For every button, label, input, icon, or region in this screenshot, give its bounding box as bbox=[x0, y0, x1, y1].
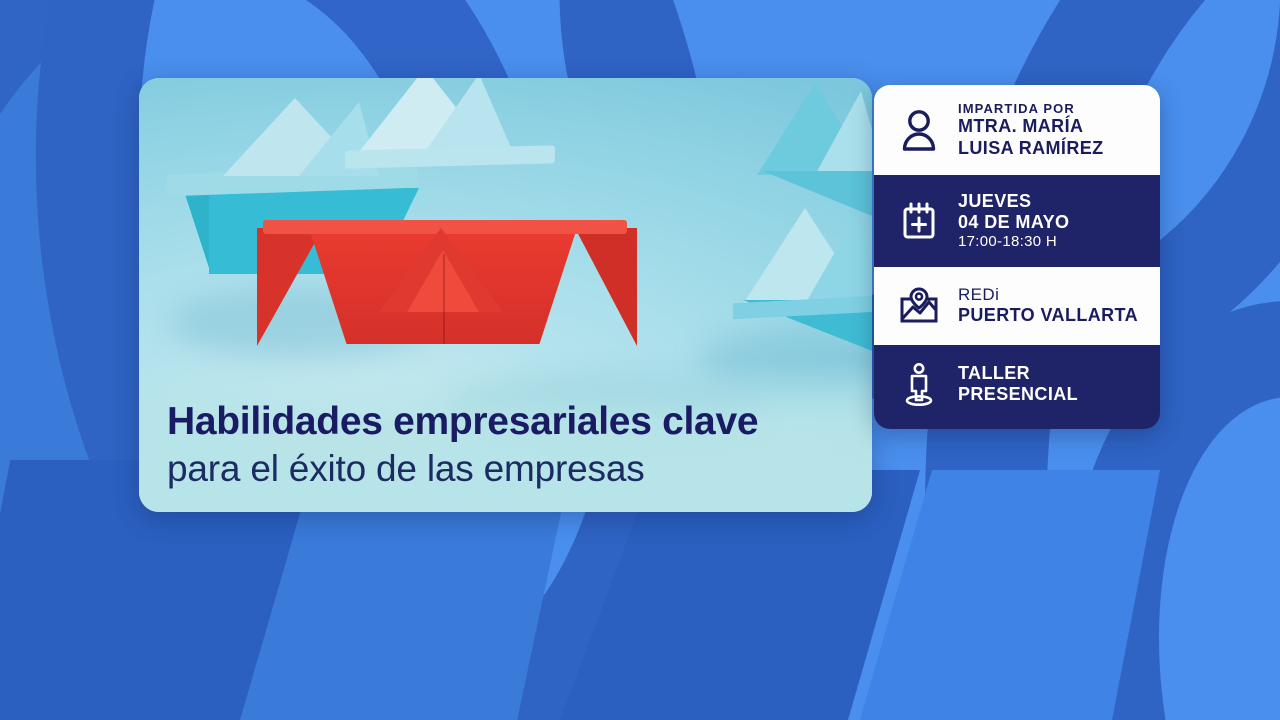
info-card-modality: TALLER PRESENCIAL bbox=[874, 345, 1160, 429]
origami-boat-pale-back-middle bbox=[339, 78, 579, 218]
info-card-modality-text: TALLER PRESENCIAL bbox=[958, 363, 1078, 405]
speaker-label: IMPARTIDA POR bbox=[958, 101, 1104, 116]
modality-type: TALLER bbox=[958, 363, 1078, 384]
standing-person-icon bbox=[896, 361, 942, 407]
location-center: REDi bbox=[958, 285, 1138, 305]
info-card-date: JUEVES 04 DE MAYO 17:00-18:30 H bbox=[874, 175, 1160, 267]
speaker-name-line-1: MTRA. MARÍA bbox=[958, 116, 1104, 137]
info-card-location: REDi PUERTO VALLARTA bbox=[874, 267, 1160, 345]
modality-format: PRESENCIAL bbox=[958, 384, 1078, 405]
event-poster: Habilidades empresariales clave para el … bbox=[0, 0, 1280, 720]
info-card-speaker-text: IMPARTIDA POR MTRA. MARÍA LUISA RAMÍREZ bbox=[958, 101, 1104, 159]
title-line-2: para el éxito de las empresas bbox=[167, 449, 872, 488]
info-card-location-text: REDi PUERTO VALLARTA bbox=[958, 285, 1138, 326]
person-icon bbox=[896, 107, 942, 153]
date-day-month: 04 DE MAYO bbox=[958, 212, 1069, 233]
date-time: 17:00-18:30 H bbox=[958, 233, 1069, 251]
origami-boat-red-leader bbox=[257, 198, 637, 398]
event-info-cards: IMPARTIDA POR MTRA. MARÍA LUISA RAMÍREZ … bbox=[874, 85, 1160, 429]
hero-photo-panel: Habilidades empresariales clave para el … bbox=[139, 78, 872, 512]
speaker-name-line-2: LUISA RAMÍREZ bbox=[958, 138, 1104, 159]
location-city: PUERTO VALLARTA bbox=[958, 305, 1138, 326]
map-pin-icon bbox=[896, 283, 942, 329]
calendar-icon bbox=[896, 198, 942, 244]
date-weekday: JUEVES bbox=[958, 191, 1069, 212]
info-card-speaker: IMPARTIDA POR MTRA. MARÍA LUISA RAMÍREZ bbox=[874, 85, 1160, 175]
footer: Red de Centros de Innovación Inn bbox=[0, 520, 1280, 720]
title-line-1: Habilidades empresariales clave bbox=[167, 401, 872, 442]
info-card-date-text: JUEVES 04 DE MAYO 17:00-18:30 H bbox=[958, 191, 1069, 251]
